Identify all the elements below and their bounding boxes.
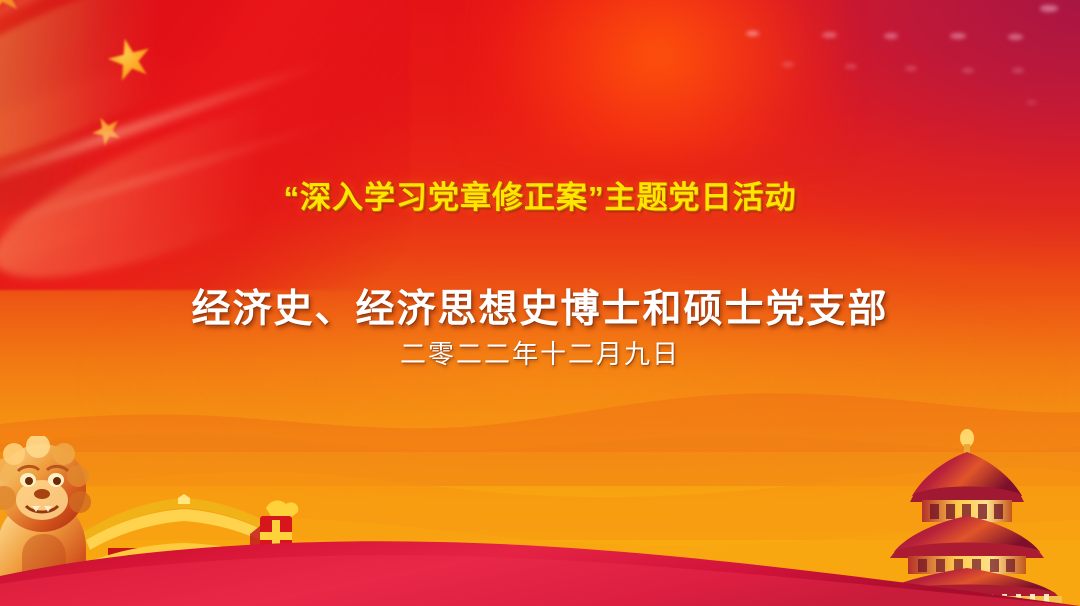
page-title: “深入学习党章修正案”主题党日活动 [0,172,1080,217]
light-speckle [962,68,974,73]
light-speckle [884,33,898,39]
red-ribbon-sweep [0,520,1080,606]
light-speckle [950,33,966,39]
light-speckle [845,64,857,69]
light-speckle [1008,34,1023,40]
organization-subtitle: 经济史、经济思想史博士和硕士党支部 [0,278,1080,334]
light-speckle [1040,5,1058,12]
event-date: 二零二二年十二月九日 [0,334,1080,371]
light-speckle [1026,100,1037,105]
light-speckle [782,62,794,67]
chinese-flag [0,0,410,290]
monuments-group [0,416,1080,606]
light-speckle [905,66,917,71]
light-speckle [746,31,759,36]
light-speckle [1012,68,1024,73]
light-speckle [822,32,837,38]
presentation-slide: “深入学习党章修正案”主题党日活动 经济史、经济思想史博士和硕士党支部 二零二二… [0,0,1080,606]
sun-glow [475,0,842,158]
